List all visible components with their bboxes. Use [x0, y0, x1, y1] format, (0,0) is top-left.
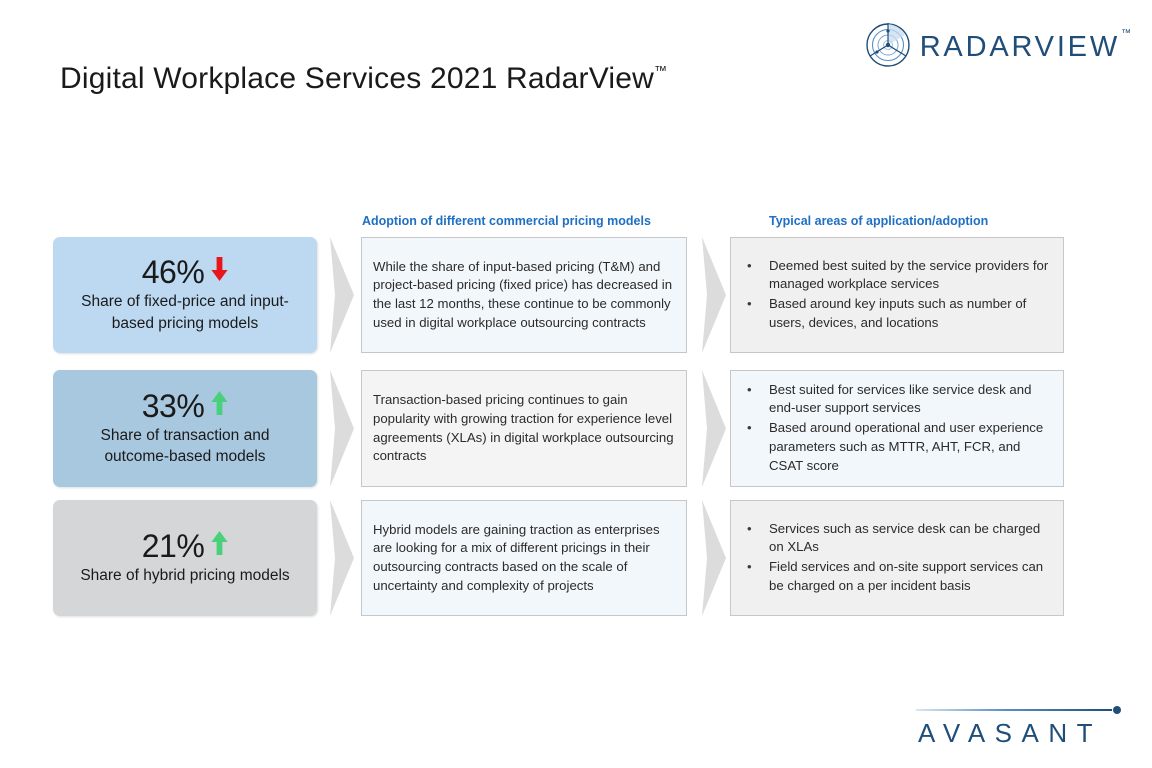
list-item: •Based around operational and user exper…	[737, 419, 1053, 475]
content-row: 33% Share of transaction and outcome-bas…	[0, 370, 1152, 487]
radarview-trademark: ™	[1121, 28, 1131, 39]
metric-card[interactable]: 21% Share of hybrid pricing models	[53, 500, 317, 616]
bullet-icon: •	[747, 419, 752, 438]
content-row: 21% Share of hybrid pricing models Hybri…	[0, 500, 1152, 616]
chevron-right-icon	[696, 237, 732, 353]
metric-headline: 21%	[142, 530, 229, 562]
avasant-logo: AVASANT	[916, 702, 1128, 754]
metric-label: Share of hybrid pricing models	[64, 565, 305, 586]
list-item: •Best suited for services like service d…	[737, 381, 1053, 418]
application-box: •Deemed best suited by the service provi…	[730, 237, 1064, 353]
description-text: While the share of input-based pricing (…	[373, 258, 675, 333]
list-item: •Based around key inputs such as number …	[737, 295, 1053, 332]
list-item: •Deemed best suited by the service provi…	[737, 257, 1053, 294]
metric-value: 46%	[142, 256, 205, 288]
metric-headline: 33%	[142, 390, 229, 422]
bullet-icon: •	[747, 257, 752, 276]
avasant-logo-line	[916, 709, 1112, 711]
chevron-right-icon	[696, 500, 732, 616]
description-text: Transaction-based pricing continues to g…	[373, 391, 675, 466]
description-text: Hybrid models are gaining traction as en…	[373, 521, 675, 596]
application-box: •Best suited for services like service d…	[730, 370, 1064, 487]
metric-headline: 46%	[142, 256, 229, 288]
metric-value: 21%	[142, 530, 205, 562]
bullet-icon: •	[747, 295, 752, 314]
page-title: Digital Workplace Services 2021 RadarVie…	[60, 62, 667, 96]
metric-label: Share of fixed-price and input-based pri…	[53, 291, 317, 334]
metric-card[interactable]: 33% Share of transaction and outcome-bas…	[53, 370, 317, 487]
bullet-list: •Services such as service desk can be ch…	[737, 520, 1053, 597]
arrow-up-icon	[211, 391, 228, 421]
description-box: Transaction-based pricing continues to g…	[361, 370, 687, 487]
metric-label: Share of transaction and outcome-based m…	[53, 425, 317, 468]
chevron-right-icon	[324, 500, 360, 616]
avasant-wordmark: AVASANT	[918, 718, 1102, 749]
column-header-application: Typical areas of application/adoption	[769, 214, 988, 228]
bullet-list: •Best suited for services like service d…	[737, 381, 1053, 477]
description-box: Hybrid models are gaining traction as en…	[361, 500, 687, 616]
column-header-adoption: Adoption of different commercial pricing…	[362, 214, 651, 228]
arrow-down-icon	[211, 257, 228, 287]
radarview-wordmark-text: RADARVIEW	[920, 31, 1120, 63]
description-box: While the share of input-based pricing (…	[361, 237, 687, 353]
list-item-text: Services such as service desk can be cha…	[769, 521, 1040, 555]
bullet-icon: •	[747, 381, 752, 400]
list-item-text: Best suited for services like service de…	[769, 382, 1031, 416]
bullet-icon: •	[747, 520, 752, 539]
radarview-logo: RADARVIEW™	[865, 22, 1130, 73]
trademark-symbol: ™	[654, 63, 667, 78]
metric-value: 33%	[142, 390, 205, 422]
page-title-text: Digital Workplace Services 2021 RadarVie…	[60, 62, 654, 95]
chevron-right-icon	[324, 370, 360, 487]
radar-icon	[865, 22, 911, 73]
bullet-list: •Deemed best suited by the service provi…	[737, 257, 1053, 334]
list-item: •Services such as service desk can be ch…	[737, 520, 1053, 557]
arrow-up-icon	[211, 531, 228, 561]
radarview-wordmark: RADARVIEW™	[920, 31, 1130, 64]
list-item: •Field services and on-site support serv…	[737, 558, 1053, 595]
list-item-text: Deemed best suited by the service provid…	[769, 258, 1048, 292]
content-row: 46% Share of fixed-price and input-based…	[0, 237, 1152, 353]
list-item-text: Based around key inputs such as number o…	[769, 296, 1026, 330]
metric-card[interactable]: 46% Share of fixed-price and input-based…	[53, 237, 317, 353]
bullet-icon: •	[747, 558, 752, 577]
avasant-logo-dot	[1113, 706, 1121, 714]
list-item-text: Based around operational and user experi…	[769, 420, 1043, 472]
list-item-text: Field services and on-site support servi…	[769, 559, 1043, 593]
application-box: •Services such as service desk can be ch…	[730, 500, 1064, 616]
chevron-right-icon	[696, 370, 732, 487]
chevron-right-icon	[324, 237, 360, 353]
